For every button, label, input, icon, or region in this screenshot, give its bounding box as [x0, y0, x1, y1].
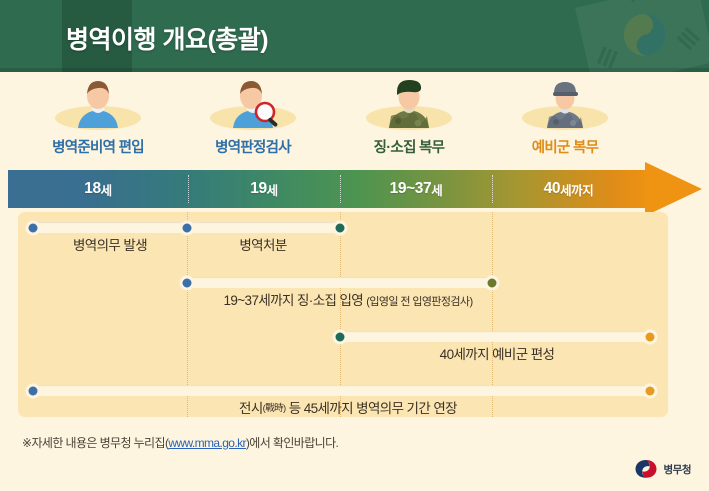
row-military-duty-start-milestone-dot: [26, 220, 41, 235]
row-military-duty-start-label: 병역의무 발생: [73, 234, 147, 254]
age-segment-label: 40세까지: [492, 170, 645, 208]
page-title: 병역이행 개요(총괄): [66, 20, 268, 56]
korean-flag-watermark-icon: [559, 0, 709, 72]
row-enlistment-milestone-dot: [485, 275, 500, 290]
footnote-post: )에서 확인바랍니다.: [246, 436, 338, 450]
reservist-cap-icon: [532, 76, 598, 128]
persona-label: 병역준비역 편입: [22, 136, 174, 157]
persona-art: [177, 76, 329, 132]
row-enlistment-bar: [187, 277, 492, 288]
row-enlistment-label: 19~37세까지 징·소집 입영 (입영일 전 입영판정검사): [223, 289, 472, 309]
row-wartime-extension-milestone-dot: [643, 383, 658, 398]
age-value: 19~37: [390, 180, 432, 198]
persona-art: [333, 76, 485, 132]
age-suffix: 세까지: [560, 180, 593, 199]
row-reserve-forces-milestone-dot: [333, 329, 348, 344]
row-wartime-extension-milestone-dot: [26, 383, 41, 398]
man-with-magnifier-icon: [220, 76, 286, 128]
persona-label: 징·소집 복무: [333, 136, 485, 157]
soldier-beret-icon: [376, 76, 442, 128]
label-text: 19~37세까지 징·소집 입영: [223, 293, 366, 308]
label-hanja: (戰時): [263, 403, 286, 414]
mma-logo-text: 병무청: [664, 462, 691, 477]
age-suffix: 세: [101, 180, 112, 199]
age-bar-divider: [492, 175, 493, 203]
mma-website-link[interactable]: www.mma.go.kr: [168, 436, 246, 450]
footnote-pre: ※자세한 내용은 병무청 누리집(: [22, 436, 168, 450]
header-bar: 병역이행 개요(총괄): [0, 0, 709, 72]
label-text-post: 등 45세까지 병역의무 기간 연장: [286, 401, 457, 416]
row-reserve-forces-bar: [340, 331, 650, 342]
mma-logo: 병무청: [633, 458, 691, 480]
footnote: ※자세한 내용은 병무청 누리집(www.mma.go.kr)에서 확인바랍니다…: [22, 434, 338, 451]
label-text: 병역처분: [239, 238, 286, 253]
label-text: 전시: [239, 401, 263, 416]
persona-art: [489, 76, 641, 132]
age-bar-divider: [340, 175, 341, 203]
row-reserve-forces-milestone-dot: [643, 329, 658, 344]
row-enlistment-milestone-dot: [180, 275, 195, 290]
persona-label: 병역판정검사: [177, 136, 329, 157]
row-military-duty-start-milestone-dot: [333, 220, 348, 235]
civilian-young-man-icon: [65, 76, 131, 128]
age-segment-label: 19~37세: [340, 170, 492, 208]
row-military-duty-start-label: 병역처분: [239, 234, 286, 254]
age-value: 18: [84, 180, 100, 198]
age-value: 19: [250, 180, 266, 198]
persona-reserve-duty: 예비군 복무: [489, 76, 641, 162]
header-bottom-shade: [0, 68, 709, 72]
row-reserve-forces-label: 40세까지 예비군 편성: [440, 343, 555, 363]
infographic-canvas: 병역이행 개요(총괄) 병역준비역 편입: [0, 0, 709, 491]
age-bar-arrowhead-icon: [645, 162, 702, 216]
age-value: 40: [544, 180, 560, 198]
label-subtext: (입영일 전 입영판정검사): [366, 296, 472, 308]
row-military-duty-start-milestone-dot: [180, 220, 195, 235]
row-wartime-extension-label: 전시(戰時) 등 45세까지 병역의무 기간 연장: [239, 397, 457, 417]
mma-taegeuk-logo-icon: [633, 458, 659, 480]
age-segment-label: 18세: [8, 170, 188, 208]
persona-label: 예비군 복무: [489, 136, 641, 157]
age-bar-divider: [188, 175, 189, 203]
age-suffix: 세: [267, 180, 278, 199]
label-text: 40세까지 예비군 편성: [440, 347, 555, 362]
persona-conscription-exam: 병역판정검사: [177, 76, 329, 162]
persona-art: [22, 76, 174, 132]
label-text: 병역의무 발생: [73, 238, 147, 253]
persona-military-service-candidate: 병역준비역 편입: [22, 76, 174, 162]
age-suffix: 세: [431, 180, 442, 199]
row-wartime-extension-bar: [33, 385, 650, 396]
persona-active-duty: 징·소집 복무: [333, 76, 485, 162]
age-segment-label: 19세: [188, 170, 340, 208]
